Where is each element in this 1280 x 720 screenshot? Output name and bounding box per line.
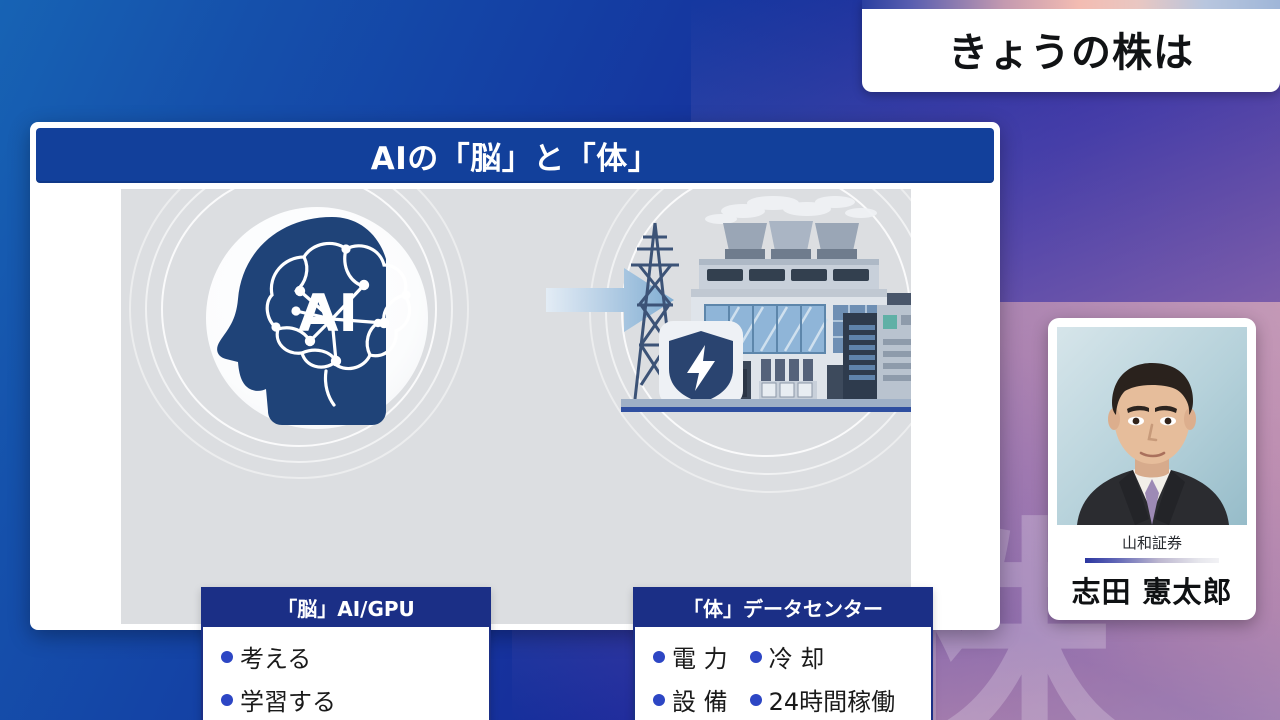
main-info-panel: AIの「脳」と「体」 xyxy=(30,122,1000,630)
bullet-item: 電 力 xyxy=(653,639,728,674)
header-title-wrap: きょうの株は xyxy=(862,9,1280,92)
info-box-datacenter-body: 電 力 冷 却 設 備 24時間稼働 xyxy=(635,627,931,720)
commentator-card: 山和証券 志田 憲太郎 xyxy=(1048,318,1256,620)
ai-label: AI xyxy=(298,284,358,344)
bullet-item: 冷 却 xyxy=(750,639,825,674)
ai-brain-illustration: AI xyxy=(176,199,476,434)
bullet-row: 学習する xyxy=(221,678,479,720)
bullet-dot-icon xyxy=(750,694,762,706)
bullet-dot-icon xyxy=(653,651,665,663)
commentator-company: 山和証券 xyxy=(1057,532,1247,553)
illustration-area: AI xyxy=(121,189,911,624)
panel-body: AI xyxy=(36,189,994,624)
program-title: きょうの株は xyxy=(948,20,1194,78)
bullet-label: 設 備 xyxy=(672,682,728,717)
bullet-label: 学習する xyxy=(240,682,336,717)
data-center-facility-icon xyxy=(621,193,911,423)
data-center-illustration xyxy=(621,193,911,423)
bullet-label: 考える xyxy=(240,639,311,674)
shield-lightning-icon xyxy=(659,321,743,405)
bullet-dot-icon xyxy=(653,694,665,706)
header-gradient-strip xyxy=(862,0,1280,9)
bullet-dot-icon xyxy=(221,694,233,706)
bullet-dot-icon xyxy=(750,651,762,663)
commentator-name: 志田 憲太郎 xyxy=(1057,569,1247,611)
bullet-item: 学習する xyxy=(221,682,336,717)
info-box-datacenter-header: 「体」データセンター xyxy=(635,589,931,627)
bullet-label: 電 力 xyxy=(672,639,728,674)
bullet-item: 考える xyxy=(221,639,311,674)
panel-title: AIの「脳」と「体」 xyxy=(371,133,660,178)
commentator-photo xyxy=(1057,327,1247,525)
info-box-datacenter: 「体」データセンター 電 力 冷 却 設 備 xyxy=(633,587,933,720)
info-box-brain: 「脳」AI/GPU 考える 学習する xyxy=(201,587,491,720)
bullet-label: 冷 却 xyxy=(769,639,825,674)
bullet-row: 電 力 冷 却 xyxy=(653,635,921,678)
bullet-item: 24時間稼働 xyxy=(750,682,896,717)
bullet-item: 設 備 xyxy=(653,682,728,717)
panel-titlebar: AIの「脳」と「体」 xyxy=(36,128,994,183)
bullet-row: 考える xyxy=(221,635,479,678)
info-box-brain-header: 「脳」AI/GPU xyxy=(203,589,489,627)
info-box-brain-body: 考える 学習する xyxy=(203,627,489,720)
bullet-row: 設 備 24時間稼働 xyxy=(653,678,921,720)
program-header-banner: きょうの株は xyxy=(862,0,1280,92)
bullet-dot-icon xyxy=(221,651,233,663)
portrait-photo xyxy=(1057,327,1247,525)
ai-brain-head-icon: AI xyxy=(176,199,476,434)
card-divider xyxy=(1085,558,1219,563)
bullet-label: 24時間稼働 xyxy=(769,682,896,717)
